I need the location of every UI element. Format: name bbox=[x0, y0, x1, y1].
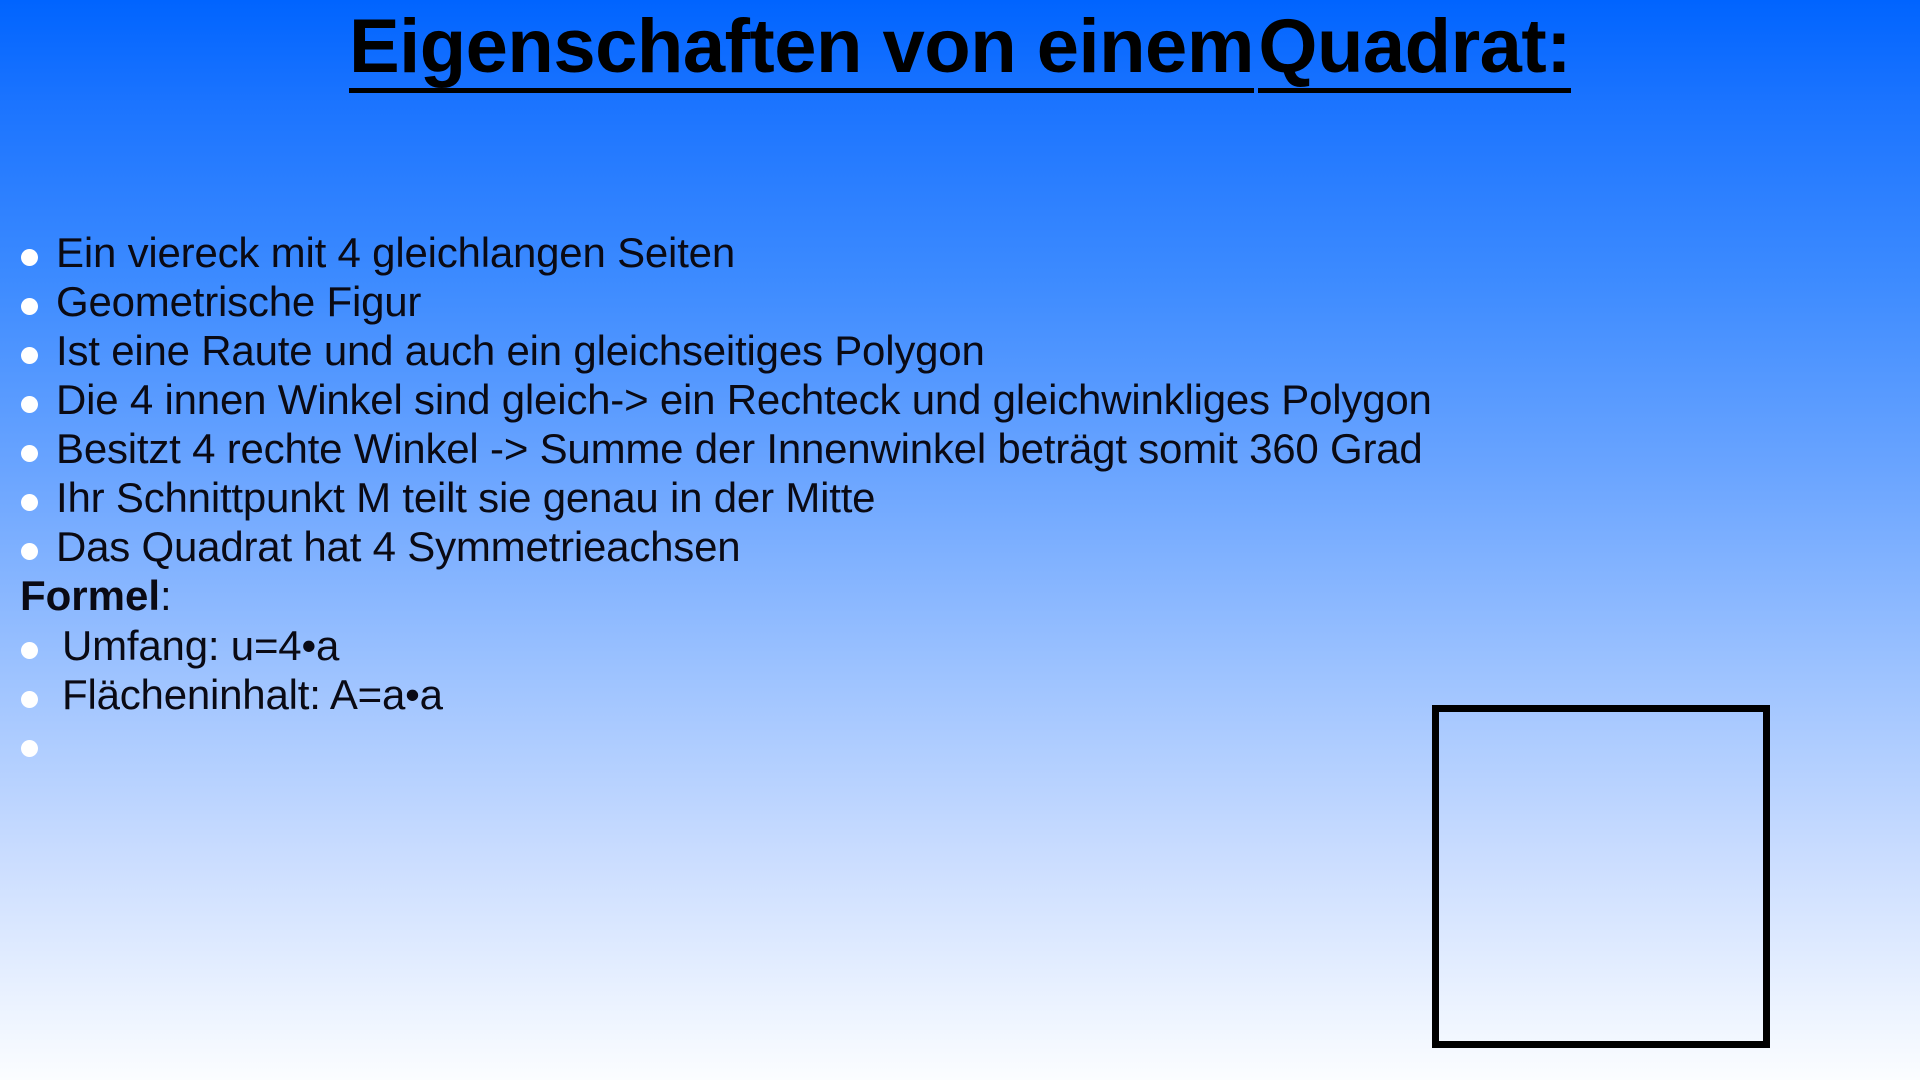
list-item-label: Die 4 innen Winkel sind gleich-> ein Rec… bbox=[56, 375, 1538, 424]
formel-heading: Formel: bbox=[18, 571, 172, 621]
list-item-label: Besitzt 4 rechte Winkel -> Summe der Inn… bbox=[56, 424, 1538, 473]
formula-label-umfang: Umfang: u=4•a bbox=[56, 621, 1538, 670]
empty-list-item-label bbox=[56, 719, 1538, 759]
bullet-dot-icon bbox=[18, 396, 40, 413]
list-item-label: Ihr Schnittpunkt M teilt sie genau in de… bbox=[56, 473, 1538, 522]
bullet-dot-icon bbox=[18, 691, 40, 708]
square-shape bbox=[1432, 705, 1770, 1048]
formel-heading-word: Formel bbox=[20, 572, 160, 619]
formula-label-flaecheninhalt: Flächeninhalt: A=a•a bbox=[56, 670, 1538, 719]
bullet-dot-icon bbox=[18, 249, 40, 266]
list-item-label: Geometrische Figur bbox=[56, 277, 1538, 326]
title-line-1: Eigenschaften von einem bbox=[349, 8, 1254, 93]
bullet-dot-icon bbox=[18, 543, 40, 560]
list-item: Besitzt 4 rechte Winkel -> Summe der Inn… bbox=[18, 424, 1538, 473]
bullet-dot-icon bbox=[18, 298, 40, 315]
list-item: Ist eine Raute und auch ein gleichseitig… bbox=[18, 326, 1538, 375]
title-line-2: Quadrat: bbox=[1258, 8, 1571, 93]
list-item: Ein viereck mit 4 gleichlangen Seiten bbox=[18, 228, 1538, 277]
bullet-dot-icon bbox=[18, 642, 40, 659]
list-item: Das Quadrat hat 4 Symmetrieachsen bbox=[18, 522, 1538, 571]
list-item-empty bbox=[18, 719, 1538, 759]
list-item: Geometrische Figur bbox=[18, 277, 1538, 326]
bullet-dot-icon bbox=[18, 445, 40, 462]
bullet-dot-icon bbox=[18, 494, 40, 511]
list-item: Umfang: u=4•a bbox=[18, 621, 1538, 670]
list-item-label: Das Quadrat hat 4 Symmetrieachsen bbox=[56, 522, 1538, 571]
bullet-list: Ein viereck mit 4 gleichlangen Seiten Ge… bbox=[18, 228, 1538, 759]
list-item: Flächeninhalt: A=a•a bbox=[18, 670, 1538, 719]
formel-heading-colon: : bbox=[160, 572, 172, 619]
list-item: Ihr Schnittpunkt M teilt sie genau in de… bbox=[18, 473, 1538, 522]
list-item: Die 4 innen Winkel sind gleich-> ein Rec… bbox=[18, 375, 1538, 424]
bullet-dot-icon bbox=[18, 347, 40, 364]
slide-canvas: Eigenschaften von einem Quadrat: Ein vie… bbox=[0, 0, 1920, 1080]
formel-heading-row: Formel: bbox=[18, 571, 1538, 621]
bullet-dot-icon bbox=[18, 740, 40, 757]
page-title: Eigenschaften von einem Quadrat: bbox=[0, 8, 1920, 107]
list-item-label: Ein viereck mit 4 gleichlangen Seiten bbox=[56, 228, 1538, 277]
list-item-label: Ist eine Raute und auch ein gleichseitig… bbox=[56, 326, 1538, 375]
